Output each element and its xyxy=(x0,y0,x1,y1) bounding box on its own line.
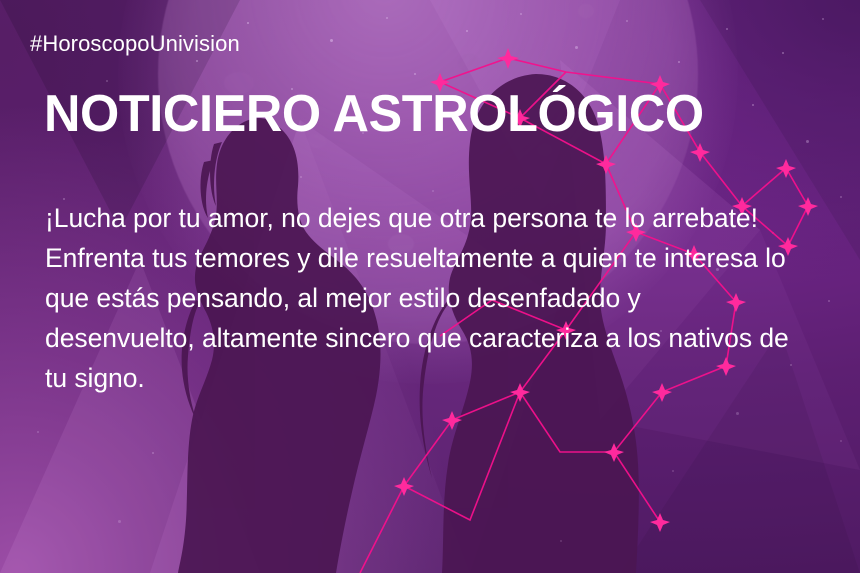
horoscope-body-text: ¡Lucha por tu amor, no dejes que otra pe… xyxy=(45,198,790,398)
horoscope-card: #HoroscopoUnivision NOTICIERO ASTROLÓGIC… xyxy=(0,0,860,573)
hashtag-label: #HoroscopoUnivision xyxy=(30,31,240,57)
page-title: NOTICIERO ASTROLÓGICO xyxy=(44,87,704,141)
